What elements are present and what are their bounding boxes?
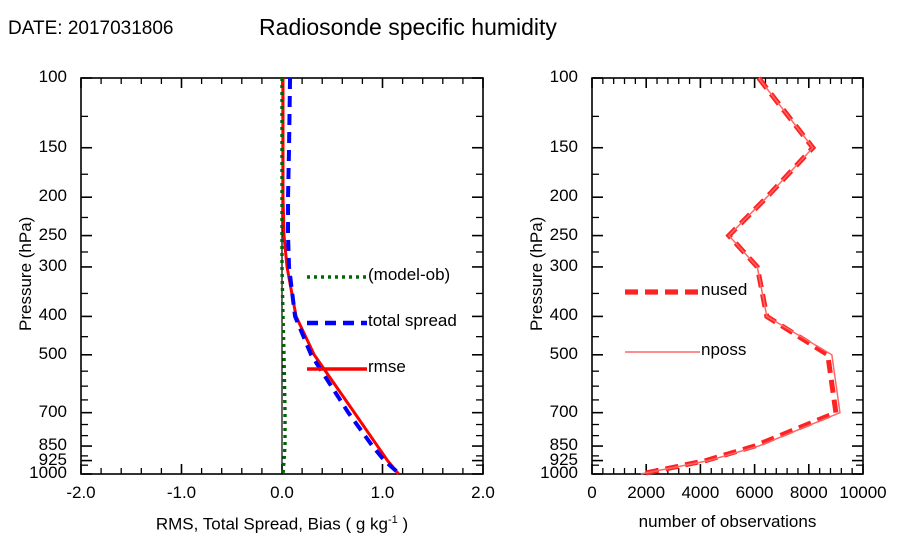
figure-canvas: DATE: 2017031806 Radiosonde specific hum…	[0, 0, 900, 560]
x-axis-title-exponent: -1	[388, 514, 398, 526]
legend-label-right-nposs: nposs	[701, 340, 746, 360]
x-axis-title-main: RMS, Total Spread, Bias ( g kg	[156, 515, 388, 534]
ytick-label-left-1: 150	[0, 137, 67, 157]
panel-frame-right	[592, 78, 863, 474]
legend-label-left-model-ob: (model-ob)	[368, 265, 450, 285]
ytick-label-right-1: 150	[506, 137, 578, 157]
ytick-label-left-0: 100	[0, 67, 67, 87]
series-right-nposs	[641, 78, 840, 474]
x-axis-title-left: RMS, Total Spread, Bias ( g kg-1 )	[31, 514, 533, 535]
legend-label-left-rmse: rmse	[368, 357, 406, 377]
x-axis-title-tail: )	[398, 515, 408, 534]
x-axis-title-right: number of observations	[542, 512, 900, 532]
ytick-label-left-10: 1000	[0, 463, 67, 483]
ytick-label-left-2: 200	[0, 186, 67, 206]
ytick-label-right-7: 700	[506, 402, 578, 422]
series-right-nused	[641, 78, 836, 474]
ytick-label-right-2: 200	[506, 186, 578, 206]
ytick-label-right-6: 500	[506, 344, 578, 364]
ytick-label-left-6: 500	[0, 344, 67, 364]
ytick-label-right-10: 1000	[506, 463, 578, 483]
panel-right	[592, 78, 863, 474]
xtick-label-left-4: 2.0	[423, 483, 543, 503]
y-axis-title-left: Pressure (hPa)	[16, 217, 36, 331]
legend-label-left-total-spread: total spread	[368, 311, 457, 331]
ytick-label-right-0: 100	[506, 67, 578, 87]
y-axis-title-right: Pressure (hPa)	[527, 217, 547, 331]
xtick-label-right-5: 10000	[803, 483, 900, 503]
legend-label-right-nused: nused	[701, 280, 747, 300]
ytick-label-left-7: 700	[0, 402, 67, 422]
